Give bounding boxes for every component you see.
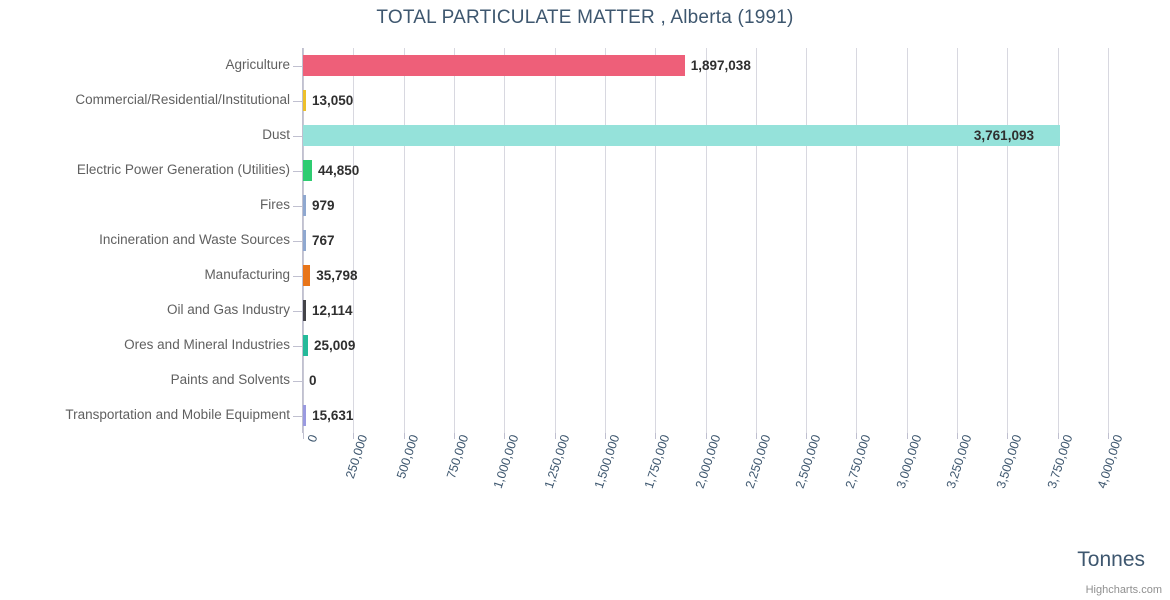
gridline <box>655 48 656 433</box>
y-axis-tick <box>293 136 302 137</box>
gridline <box>605 48 606 433</box>
x-axis-tick-label: 250,000 <box>343 433 370 480</box>
x-axis-tick-label: 2,000,000 <box>692 433 722 490</box>
x-axis-tick <box>454 433 455 439</box>
bar[interactable] <box>303 55 685 76</box>
x-axis-tick-label: 3,250,000 <box>944 433 974 490</box>
x-axis-tick <box>555 433 556 439</box>
bar-value-label: 44,850 <box>318 163 359 178</box>
x-axis-tick-label: 2,250,000 <box>743 433 773 490</box>
x-axis-tick-label: 1,250,000 <box>541 433 571 490</box>
category-label: Commercial/Residential/Institutional <box>0 92 290 107</box>
category-label: Transportation and Mobile Equipment <box>0 407 290 422</box>
gridline <box>907 48 908 433</box>
x-axis-tick <box>1108 433 1109 439</box>
gridline <box>404 48 405 433</box>
y-axis-tick <box>293 101 302 102</box>
y-axis-tick <box>293 346 302 347</box>
bar-value-label: 35,798 <box>316 268 357 283</box>
bar[interactable] <box>303 160 312 181</box>
category-label: Ores and Mineral Industries <box>0 337 290 352</box>
bar-value-label: 12,114 <box>312 303 353 318</box>
bar-value-label: 13,050 <box>312 93 353 108</box>
gridline <box>806 48 807 433</box>
bar-value-label: 15,631 <box>312 408 353 423</box>
x-axis-tick <box>605 433 606 439</box>
bar-value-label: 0 <box>309 373 317 388</box>
x-axis-tick <box>856 433 857 439</box>
x-axis-tick <box>404 433 405 439</box>
x-axis-tick <box>504 433 505 439</box>
bar[interactable] <box>303 230 306 251</box>
gridline <box>706 48 707 433</box>
gridline <box>756 48 757 433</box>
y-axis-tick <box>293 241 302 242</box>
bar-value-label: 767 <box>312 233 335 248</box>
gridline <box>504 48 505 433</box>
gridline <box>1007 48 1008 433</box>
x-axis-tick-label: 3,000,000 <box>894 433 924 490</box>
highcharts-credit: Highcharts.com <box>1086 584 1162 596</box>
category-label: Agriculture <box>0 57 290 72</box>
y-axis-tick <box>293 381 302 382</box>
x-axis-tick <box>1058 433 1059 439</box>
category-label: Oil and Gas Industry <box>0 302 290 317</box>
bar-value-label: 3,761,093 <box>974 128 1034 143</box>
y-axis-tick <box>293 206 302 207</box>
x-axis-tick <box>303 433 304 439</box>
x-axis-tick-label: 750,000 <box>444 433 471 480</box>
bar[interactable] <box>303 265 310 286</box>
x-axis-tick <box>1007 433 1008 439</box>
x-axis-tick-label: 3,500,000 <box>994 433 1024 490</box>
gridline <box>555 48 556 433</box>
x-axis-tick <box>806 433 807 439</box>
y-axis-tick <box>293 66 302 67</box>
value-axis-labels: 0250,000500,000750,0001,000,0001,250,000… <box>303 433 1108 543</box>
x-axis-tick-label: 1,750,000 <box>642 433 672 490</box>
x-axis-tick-label: 3,750,000 <box>1045 433 1075 490</box>
x-axis-tick-label: 1,500,000 <box>592 433 622 490</box>
category-label: Dust <box>0 127 290 142</box>
gridline <box>454 48 455 433</box>
bar-value-label: 979 <box>312 198 335 213</box>
bar[interactable] <box>303 125 1060 146</box>
bar[interactable] <box>303 300 306 321</box>
y-axis-tick <box>293 311 302 312</box>
bar-value-label: 1,897,038 <box>691 58 751 73</box>
category-label: Manufacturing <box>0 267 290 282</box>
y-axis-tick <box>293 171 302 172</box>
bar-value-label: 25,009 <box>314 338 355 353</box>
x-axis-tick <box>907 433 908 439</box>
gridline <box>1108 48 1109 433</box>
bar[interactable] <box>303 90 306 111</box>
gridline <box>1058 48 1059 433</box>
x-axis-tick-label: 2,750,000 <box>843 433 873 490</box>
plot-area: 1,897,03813,0503,761,09344,85097976735,7… <box>303 48 1108 433</box>
x-axis-tick-label: 1,000,000 <box>491 433 521 490</box>
x-axis-tick <box>655 433 656 439</box>
x-axis-tick <box>957 433 958 439</box>
x-axis-tick <box>353 433 354 439</box>
gridline <box>856 48 857 433</box>
bar[interactable] <box>303 335 308 356</box>
y-axis-tick <box>293 416 302 417</box>
x-axis-tick-label: 2,500,000 <box>793 433 823 490</box>
chart-title: TOTAL PARTICULATE MATTER , Alberta (1991… <box>0 7 1170 29</box>
category-axis-labels: AgricultureCommercial/Residential/Instit… <box>0 48 290 433</box>
gridline <box>353 48 354 433</box>
bar[interactable] <box>303 405 306 426</box>
x-axis-tick-label: 500,000 <box>394 433 421 480</box>
x-axis-tick <box>756 433 757 439</box>
category-label: Electric Power Generation (Utilities) <box>0 162 290 177</box>
bar[interactable] <box>303 195 306 216</box>
gridline <box>957 48 958 433</box>
category-label: Fires <box>0 197 290 212</box>
y-axis-tick <box>293 276 302 277</box>
x-axis-tick-label: 0 <box>305 433 320 444</box>
category-label: Incineration and Waste Sources <box>0 232 290 247</box>
chart-container: TOTAL PARTICULATE MATTER , Alberta (1991… <box>0 0 1170 600</box>
x-axis-tick <box>706 433 707 439</box>
axis-title-tonnes: Tonnes <box>1077 548 1145 572</box>
x-axis-tick-label: 4,000,000 <box>1095 433 1125 490</box>
category-label: Paints and Solvents <box>0 372 290 387</box>
